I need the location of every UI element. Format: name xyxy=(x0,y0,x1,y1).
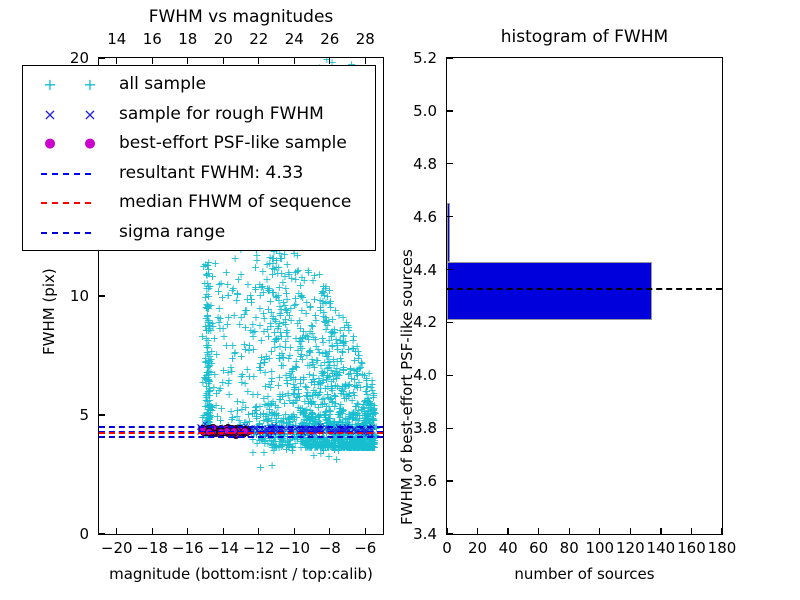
scatter-point-all: + xyxy=(327,381,336,392)
scatter-point-all: + xyxy=(210,333,219,344)
scatter-point-all: + xyxy=(244,345,253,356)
scatter-point-all: + xyxy=(267,460,276,471)
legend-line xyxy=(41,202,91,204)
scatter-point-all: + xyxy=(304,267,313,278)
left-top-tick xyxy=(152,58,153,64)
right-y-tick-label: 3.4 xyxy=(361,525,437,543)
left-panel-ylabel: FWHM (pix) xyxy=(40,268,58,355)
scatter-point-all: + xyxy=(233,396,242,407)
scatter-point-all: + xyxy=(349,439,358,450)
scatter-point-all: + xyxy=(275,350,284,361)
left-top-tick-label: 28 xyxy=(325,30,405,48)
legend-label: median FHWM of sequence xyxy=(119,188,351,217)
left-top-tick xyxy=(223,58,224,64)
scatter-point-all: + xyxy=(222,267,231,278)
scatter-point-all: + xyxy=(328,341,337,352)
right-x-tick-label: 180 xyxy=(682,539,762,557)
scatter-point-all: + xyxy=(263,283,272,294)
right-panel-xlabel: number of sources xyxy=(446,565,723,583)
histogram-median-line xyxy=(447,288,722,290)
legend-line xyxy=(41,173,91,175)
left-y-tick xyxy=(99,295,105,296)
right-y-tick xyxy=(447,110,453,111)
left-bottom-tick xyxy=(116,528,117,534)
scatter-point-all: + xyxy=(256,462,265,473)
histogram-bar xyxy=(447,203,450,261)
histogram-bar xyxy=(447,262,652,320)
left-y-tick-label: 0 xyxy=(13,525,89,543)
scatter-point-all: + xyxy=(311,387,320,398)
scatter-point-all: + xyxy=(290,389,299,400)
scatter-point-all: + xyxy=(288,364,297,375)
scatter-point-all: + xyxy=(321,441,330,452)
scatter-point-all: + xyxy=(318,296,327,307)
scatter-point-all: + xyxy=(321,283,330,294)
scatter-point-all: + xyxy=(207,346,216,357)
right-x-tick xyxy=(599,528,600,534)
scatter-point-all: + xyxy=(208,318,217,329)
scatter-point-all: + xyxy=(309,450,318,461)
left-y-tick xyxy=(99,57,105,58)
scatter-point-all: + xyxy=(223,279,232,290)
scatter-point-all: + xyxy=(311,310,320,321)
figure-canvas: FWHM vs magnitudes +++++++++++++++++++++… xyxy=(0,0,800,600)
legend: ++all sample××sample for rough FWHM●●bes… xyxy=(22,65,376,251)
left-y-tick xyxy=(99,414,105,415)
right-y-tick xyxy=(447,269,453,270)
scatter-point-all: + xyxy=(271,314,280,325)
right-y-tick xyxy=(447,322,453,323)
right-y-tick xyxy=(447,533,453,534)
legend-label: sigma range xyxy=(119,218,225,247)
scatter-point-all: + xyxy=(241,378,250,389)
scatter-point-all: + xyxy=(243,364,252,375)
scatter-point-all: + xyxy=(299,372,308,383)
legend-entry: sigma range xyxy=(23,218,375,247)
scatter-point-all: + xyxy=(215,303,224,314)
left-panel-title: FWHM vs magnitudes xyxy=(98,7,384,27)
legend-label: all sample xyxy=(119,70,206,99)
scatter-point-all: + xyxy=(287,315,296,326)
scatter-point-all: + xyxy=(217,403,226,414)
legend-line xyxy=(41,232,91,234)
legend-marker-●: ● xyxy=(39,129,61,158)
legend-entry: ●●best-effort PSF-like sample xyxy=(23,129,375,158)
legend-marker-+: + xyxy=(79,70,101,99)
scatter-point-all: + xyxy=(310,294,319,305)
scatter-point-all: + xyxy=(214,385,223,396)
scatter-point-all: + xyxy=(232,295,241,306)
left-y-tick xyxy=(99,533,105,534)
right-y-tick xyxy=(447,428,453,429)
scatter-point-all: + xyxy=(236,269,245,280)
right-x-tick xyxy=(538,528,539,534)
scatter-point-all: + xyxy=(282,305,291,316)
scatter-point-all: + xyxy=(349,331,358,342)
left-y-tick-label: 5 xyxy=(13,406,89,424)
legend-entry: ××sample for rough FWHM xyxy=(23,100,375,129)
legend-label: best-effort PSF-like sample xyxy=(119,129,347,158)
annotation-line-2 xyxy=(99,426,383,428)
left-top-tick xyxy=(329,58,330,64)
scatter-point-all: + xyxy=(260,357,269,368)
left-bottom-tick xyxy=(187,528,188,534)
right-x-tick xyxy=(691,528,692,534)
scatter-point-all: + xyxy=(354,350,363,361)
right-x-tick xyxy=(721,528,722,534)
scatter-point-all: + xyxy=(248,408,257,419)
scatter-point-all: + xyxy=(297,305,306,316)
scatter-point-all: + xyxy=(280,271,289,282)
scatter-point-all: + xyxy=(211,258,220,269)
right-x-tick xyxy=(660,528,661,534)
left-top-tick xyxy=(294,58,295,64)
left-top-tick xyxy=(187,58,188,64)
right-y-tick xyxy=(447,57,453,58)
annotation-line-3 xyxy=(99,436,383,438)
scatter-point-all: + xyxy=(260,313,269,324)
legend-entry: resultant FWHM: 4.33 xyxy=(23,159,375,188)
scatter-point-all: + xyxy=(231,347,240,358)
scatter-point-all: + xyxy=(342,317,351,328)
scatter-point-all: + xyxy=(228,412,237,423)
scatter-point-all: + xyxy=(291,274,300,285)
right-y-tick xyxy=(447,480,453,481)
right-y-tick xyxy=(447,375,453,376)
left-top-tick xyxy=(258,58,259,64)
scatter-point-all: + xyxy=(338,404,347,415)
scatter-point-all: + xyxy=(297,290,306,301)
left-bottom-tick xyxy=(294,528,295,534)
left-bottom-tick xyxy=(258,528,259,534)
scatter-point-all: + xyxy=(298,354,307,365)
right-x-tick xyxy=(477,528,478,534)
legend-marker-×: × xyxy=(39,100,61,129)
left-bottom-tick xyxy=(152,528,153,534)
scatter-point-all: + xyxy=(231,253,240,264)
right-x-tick xyxy=(630,528,631,534)
annotation-line-1 xyxy=(99,432,383,434)
scatter-point-all: + xyxy=(328,328,337,339)
scatter-point-all: + xyxy=(248,447,257,458)
legend-marker-●: ● xyxy=(79,129,101,158)
left-bottom-tick xyxy=(329,528,330,534)
scatter-point-all: + xyxy=(258,266,267,277)
legend-label: sample for rough FWHM xyxy=(119,100,324,129)
right-panel-ylabel: FWHM of best-effort PSF-like sources xyxy=(398,249,416,525)
scatter-point-all: + xyxy=(268,269,277,280)
right-y-tick xyxy=(447,163,453,164)
left-panel-xlabel: magnitude (bottom:isnt / top:calib) xyxy=(88,565,394,583)
right-panel-title: histogram of FWHM xyxy=(446,27,723,47)
scatter-point-all: + xyxy=(208,402,217,413)
legend-entry: median FHWM of sequence xyxy=(23,188,375,217)
left-bottom-tick xyxy=(223,528,224,534)
scatter-point-all: + xyxy=(311,334,320,345)
scatter-point-all: + xyxy=(361,395,370,406)
legend-label: resultant FWHM: 4.33 xyxy=(119,159,303,188)
scatter-point-all: + xyxy=(270,336,279,347)
right-x-tick xyxy=(507,528,508,534)
scatter-point-all: + xyxy=(205,376,214,387)
legend-entry: ++all sample xyxy=(23,70,375,99)
scatter-point-all: + xyxy=(259,447,268,458)
left-top-tick xyxy=(116,58,117,64)
scatter-point-all: + xyxy=(338,347,347,358)
legend-marker-+: + xyxy=(39,70,61,99)
scatter-point-all: + xyxy=(302,411,311,422)
scatter-point-all: + xyxy=(267,410,276,421)
scatter-point-all: + xyxy=(252,255,261,266)
legend-marker-×: × xyxy=(79,100,101,129)
scatter-point-all: + xyxy=(338,381,347,392)
scatter-point-all: + xyxy=(296,323,305,334)
histogram-plot-area xyxy=(447,58,722,534)
scatter-point-all: + xyxy=(310,362,319,373)
right-y-tick xyxy=(447,216,453,217)
right-x-tick xyxy=(569,528,570,534)
scatter-point-all: + xyxy=(224,312,233,323)
